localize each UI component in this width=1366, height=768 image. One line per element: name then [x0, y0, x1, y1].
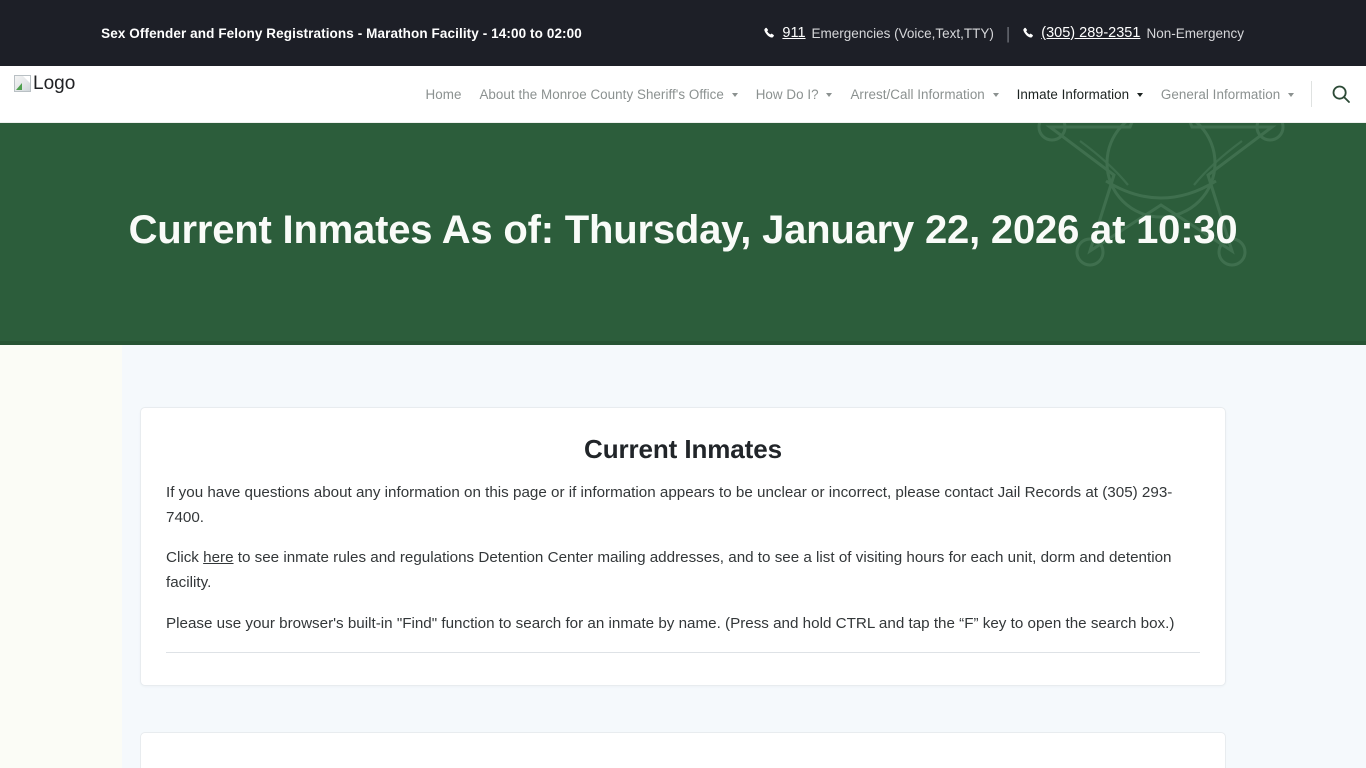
emergency-phone-label: Emergencies (Voice,Text,TTY)	[812, 26, 994, 41]
topbar-alert-text: Sex Offender and Felony Registrations - …	[0, 26, 683, 41]
non-emergency-phone-block: (305) 289-2351 Non-Emergency	[1022, 25, 1244, 41]
emergency-phone-number[interactable]: 911	[782, 25, 805, 41]
nav-item-label: How Do I?	[756, 87, 819, 102]
site-logo-link[interactable]: Logo	[14, 75, 75, 92]
card-paragraph-rules: Click here to see inmate rules and regul…	[166, 546, 1200, 595]
emergency-topbar: Sex Offender and Felony Registrations - …	[0, 0, 1366, 66]
card-paragraph-find-tip: Please use your browser's built-in "Find…	[166, 612, 1200, 637]
non-emergency-phone-number[interactable]: (305) 289-2351	[1041, 25, 1140, 41]
nav-item-how-do-i[interactable]: How Do I?	[747, 87, 842, 102]
chevron-down-icon	[1137, 93, 1143, 97]
page-title: Current Inmates As of: Thursday, January…	[0, 208, 1366, 257]
page-body: Current Inmates If you have questions ab…	[0, 345, 1366, 768]
chevron-down-icon	[732, 93, 738, 97]
nav-item-label: Home	[426, 87, 462, 102]
nav-item-home[interactable]: Home	[417, 87, 471, 102]
broken-image-icon	[14, 75, 31, 92]
emergency-phone-block: 911 Emergencies (Voice,Text,TTY)	[763, 25, 993, 41]
phone-icon	[1022, 27, 1035, 40]
paragraph-text-before-link: Click	[166, 549, 203, 566]
card-bottom-spacer	[166, 653, 1200, 685]
main-navbar: Logo Home About the Monroe County Sherif…	[0, 66, 1366, 123]
card-title: Current Inmates	[166, 434, 1200, 465]
non-emergency-phone-label: Non-Emergency	[1146, 26, 1244, 41]
nav-menu: Home About the Monroe County Sheriff's O…	[417, 81, 1312, 107]
nav-item-general-information[interactable]: General Information	[1152, 87, 1303, 102]
logo-alt-text: Logo	[33, 75, 75, 92]
chevron-down-icon	[993, 93, 999, 97]
nav-item-label: Arrest/Call Information	[850, 87, 984, 102]
chevron-down-icon	[826, 93, 832, 97]
card-gap	[140, 686, 1226, 732]
inmate-roster-card	[140, 732, 1226, 768]
content-container: Current Inmates If you have questions ab…	[140, 345, 1226, 768]
paragraph-text-after-link: to see inmate rules and regulations Dete…	[166, 549, 1171, 591]
topbar-phone-group: 911 Emergencies (Voice,Text,TTY) | (305)…	[763, 25, 1244, 42]
nav-item-about[interactable]: About the Monroe County Sheriff's Office	[470, 87, 746, 102]
phone-separator: |	[1006, 25, 1010, 42]
nav-item-arrest-call-information[interactable]: Arrest/Call Information	[841, 87, 1007, 102]
nav-item-inmate-information[interactable]: Inmate Information	[1008, 87, 1152, 102]
chevron-down-icon	[1288, 93, 1294, 97]
card-paragraph-contact: If you have questions about any informat…	[166, 481, 1200, 530]
search-icon[interactable]	[1328, 81, 1354, 107]
nav-item-label: About the Monroe County Sheriff's Office	[479, 87, 723, 102]
current-inmates-info-card: Current Inmates If you have questions ab…	[140, 407, 1226, 686]
inmate-rules-here-link[interactable]: here	[203, 549, 233, 566]
nav-divider	[1311, 81, 1312, 107]
phone-icon	[763, 27, 776, 40]
nav-item-label: Inmate Information	[1017, 87, 1130, 102]
nav-item-label: General Information	[1161, 87, 1280, 102]
page-hero-banner: FLORIDA Current Inmates As of: Thursday,…	[0, 123, 1366, 345]
